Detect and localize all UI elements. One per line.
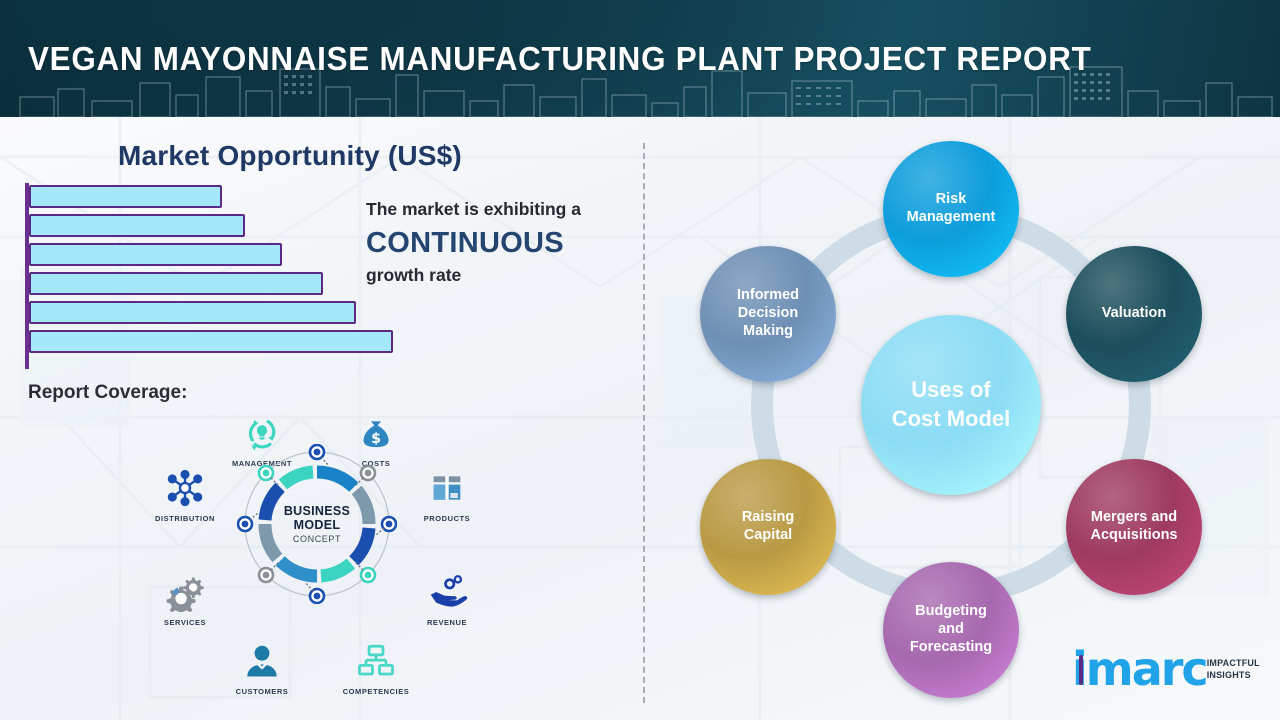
- section-title-market-opportunity: Market Opportunity (US$): [118, 140, 462, 172]
- node-label-line-2: Cost Model: [892, 405, 1011, 434]
- node-risk-management[interactable]: Risk Management: [883, 141, 1019, 277]
- node-label-line-1: Uses of: [892, 376, 1011, 405]
- node-label-line-2: Decision: [737, 305, 799, 323]
- table-row: [29, 330, 393, 353]
- node-uses-of-cost-model[interactable]: Uses of Cost Model: [861, 315, 1041, 495]
- node-raising-capital[interactable]: Raising Capital: [700, 459, 836, 595]
- growth-callout: The market is exhibiting a CONTINUOUS gr…: [366, 199, 636, 287]
- coverage-item-customers[interactable]: CUSTOMERS: [214, 638, 310, 696]
- node-label-line-1: Informed: [737, 287, 799, 305]
- node-label-line-2: and: [910, 621, 992, 639]
- org-chart-icon: [328, 638, 424, 684]
- coverage-item-revenue[interactable]: REVENUE: [399, 569, 495, 627]
- callout-line-3: growth rate: [366, 265, 636, 287]
- report-coverage-label: Report Coverage:: [28, 382, 187, 404]
- business-model-wheel: BUSINESS MODEL CONCEPT: [237, 444, 397, 604]
- market-opportunity-bar-chart: [25, 183, 425, 369]
- node-label-line-3: Forecasting: [910, 639, 992, 657]
- gears-icon: [137, 569, 233, 615]
- coverage-item-label: CUSTOMERS: [214, 687, 310, 696]
- page-title: VEGAN MAYONNAISE MANUFACTURING PLANT PRO…: [28, 40, 1092, 78]
- node-label-line-1: Budgeting: [910, 603, 992, 621]
- node-valuation[interactable]: Valuation: [1066, 246, 1202, 382]
- imarc-logo-tagline: IMPACTFUL INSIGHTS: [1207, 658, 1260, 681]
- node-label-line-2: Capital: [742, 527, 794, 545]
- hand-coins-icon: [399, 569, 495, 615]
- node-label-line-1: Mergers and: [1090, 509, 1177, 527]
- table-row: [29, 272, 323, 295]
- node-label-line-3: Making: [737, 323, 799, 341]
- callout-line-2: CONTINUOUS: [366, 224, 636, 263]
- node-label-line-2: Acquisitions: [1090, 527, 1177, 545]
- callout-line-1: The market is exhibiting a: [366, 199, 636, 221]
- slide-header: VEGAN MAYONNAISE MANUFACTURING PLANT PRO…: [0, 0, 1280, 117]
- coverage-item-label: DISTRIBUTION: [137, 514, 233, 523]
- coverage-item-label: COMPETENCIES: [328, 687, 424, 696]
- imarc-logo-divider: [1079, 655, 1083, 685]
- node-mergers-and-acquisitions[interactable]: Mergers and Acquisitions: [1066, 459, 1202, 595]
- imarc-logo-wordmark: imarc: [1072, 650, 1207, 689]
- coverage-item-label: PRODUCTS: [399, 514, 495, 523]
- node-informed-decision-making[interactable]: Informed Decision Making: [700, 246, 836, 382]
- right-panel: Uses of Cost Model Risk Management Valua…: [643, 117, 1280, 720]
- imarc-tagline-line-2: INSIGHTS: [1207, 670, 1260, 681]
- slide-canvas: VEGAN MAYONNAISE MANUFACTURING PLANT PRO…: [0, 0, 1280, 720]
- imarc-tagline-line-1: IMPACTFUL: [1207, 658, 1260, 669]
- package-box-icon: [399, 465, 495, 511]
- person-user-icon: [214, 638, 310, 684]
- node-label-line-1: Risk: [907, 191, 996, 209]
- coverage-item-competencies[interactable]: COMPETENCIES: [328, 638, 424, 696]
- imarc-logo: imarc IMPACTFUL INSIGHTS: [1072, 650, 1260, 689]
- table-row: [29, 185, 222, 208]
- coverage-item-products[interactable]: PRODUCTS: [399, 465, 495, 523]
- node-label-line-1: Raising: [742, 509, 794, 527]
- network-nodes-icon: [137, 465, 233, 511]
- coverage-item-label: REVENUE: [399, 618, 495, 627]
- node-label-line-1: Valuation: [1102, 305, 1166, 323]
- left-panel: Market Opportunity (US$) The market is e…: [0, 117, 643, 720]
- coverage-item-label: SERVICES: [137, 618, 233, 627]
- coverage-item-distribution[interactable]: DISTRIBUTION: [137, 465, 233, 523]
- table-row: [29, 214, 245, 237]
- node-label-line-2: Management: [907, 209, 996, 227]
- table-row: [29, 243, 282, 266]
- coverage-item-services[interactable]: SERVICES: [137, 569, 233, 627]
- node-budgeting-and-forecasting[interactable]: Budgeting and Forecasting: [883, 562, 1019, 698]
- table-row: [29, 301, 356, 324]
